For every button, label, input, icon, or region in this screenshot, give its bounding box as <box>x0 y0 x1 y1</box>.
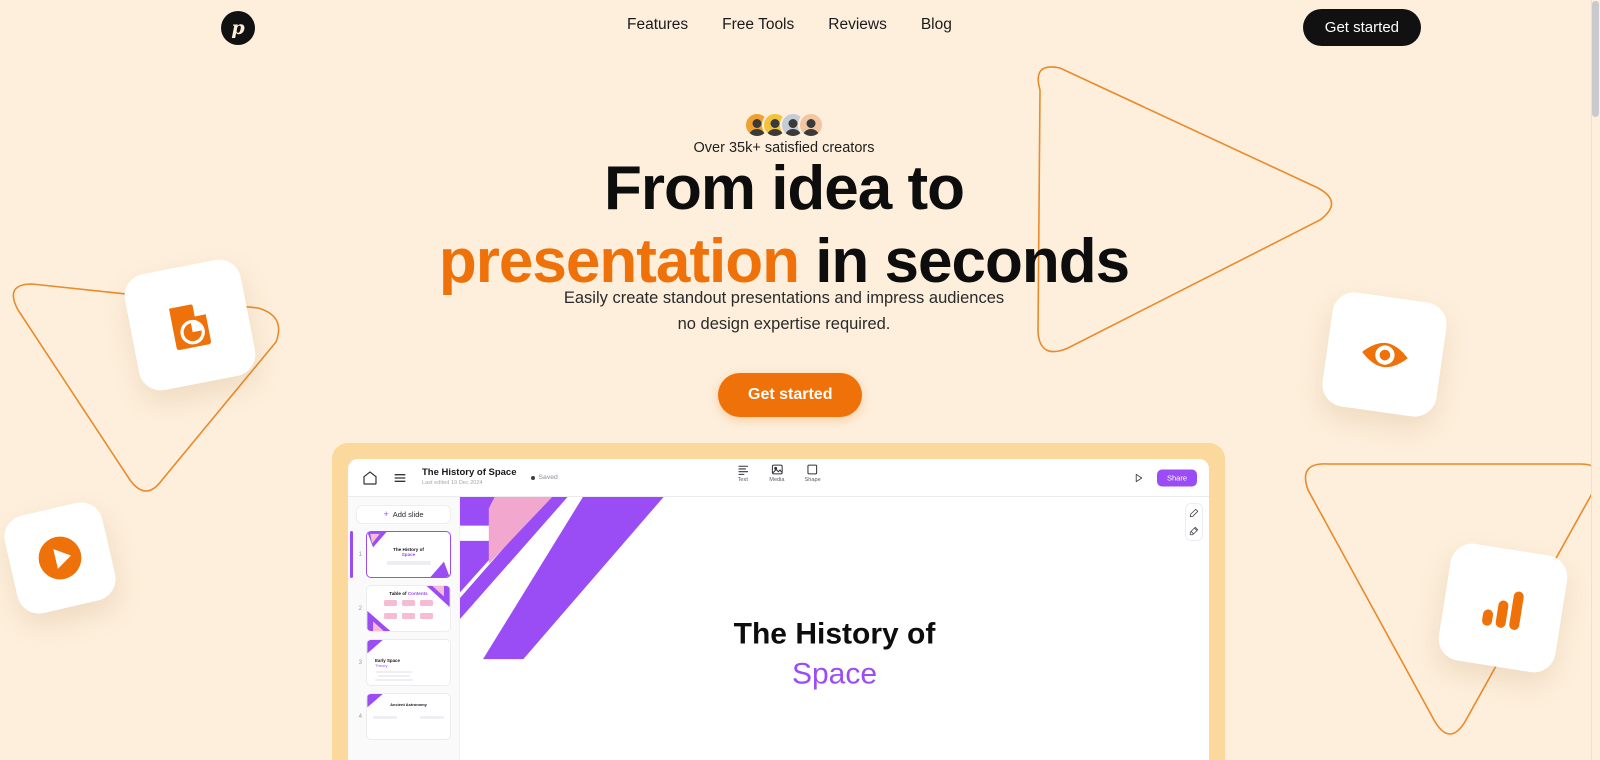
app-toolbar: The History of Space Last edited 19 Dec … <box>348 459 1209 497</box>
tool-shape[interactable]: Shape <box>805 463 821 483</box>
canvas-tools: Text Media Shape <box>736 463 820 483</box>
document-meta: The History of Space Last edited 19 Dec … <box>422 468 517 487</box>
subheading-line-2: no design expertise required. <box>678 315 891 333</box>
nav-item-features[interactable]: Features <box>627 16 688 34</box>
slide-thumb-row-4: 4 Ancient Astronomy <box>356 693 451 740</box>
canvas-title-sub: Space <box>460 654 1209 694</box>
slide-thumbnail-2[interactable]: Table of Contents <box>366 585 451 632</box>
slide-thumbnail-3[interactable]: Early Space Theory <box>366 639 451 686</box>
square-icon <box>806 463 819 476</box>
menu-icon[interactable] <box>392 470 408 486</box>
add-slide-button[interactable]: + Add slide <box>356 505 451 524</box>
tool-media[interactable]: Media <box>769 463 784 483</box>
nav-item-reviews[interactable]: Reviews <box>828 16 887 34</box>
hero-headline: From idea to presentation in seconds <box>0 158 1568 293</box>
slide-thumb-row-1: 1 The History of Space <box>356 531 451 578</box>
avatar-4 <box>798 112 824 138</box>
slide-1-title: The History of Space <box>367 547 450 557</box>
site-header: p Features Free Tools Reviews Blog Get s… <box>0 0 1568 56</box>
app-window: The History of Space Last edited 19 Dec … <box>348 459 1209 760</box>
slide-number-4: 4 <box>356 714 362 720</box>
play-icon[interactable] <box>1133 472 1144 483</box>
slide-thumb-row-3: 3 Early Space Theory <box>356 639 451 686</box>
slide-2-title: Table of Contents <box>367 591 450 596</box>
tool-media-label: Media <box>769 477 784 483</box>
share-button[interactable]: Share <box>1157 469 1197 486</box>
slide-number-2: 2 <box>356 606 362 612</box>
slide-canvas[interactable]: The History of Space <box>460 497 1209 760</box>
avatar-stack <box>744 112 824 138</box>
slide-1-title-sub: Space <box>402 552 416 557</box>
pen-icon[interactable] <box>1189 508 1199 518</box>
slide-thumbnail-1[interactable]: The History of Space <box>366 531 451 578</box>
app-body: + Add slide 1 <box>348 497 1209 760</box>
brand-logo[interactable]: p <box>221 11 255 45</box>
slides-panel: + Add slide 1 <box>348 497 460 760</box>
tool-text[interactable]: Text <box>736 463 749 483</box>
slide-number-1: 1 <box>356 552 362 558</box>
image-icon <box>770 463 783 476</box>
header-get-started-button[interactable]: Get started <box>1303 9 1421 46</box>
slide-2-title-main: Table of <box>389 591 406 596</box>
subheading-line-1: Easily create standout presentations and… <box>564 289 1004 307</box>
headline-line-2: presentation in seconds <box>0 231 1568 293</box>
saved-label: Saved <box>539 474 558 481</box>
page-root: p Features Free Tools Reviews Blog Get s… <box>0 0 1600 760</box>
canvas-title-main: The History of <box>734 618 936 651</box>
slide-thumb-row-2: 2 Table of Contents <box>356 585 451 632</box>
app-mockup-frame: The History of Space Last edited 19 Dec … <box>332 443 1225 760</box>
slide-2-title-sub: Contents <box>408 591 428 596</box>
page-scrollbar-thumb[interactable] <box>1592 1 1599 117</box>
add-slide-label: Add slide <box>393 510 424 519</box>
floating-card-bars <box>1435 540 1570 675</box>
tool-text-label: Text <box>738 477 748 483</box>
page-scrollbar[interactable] <box>1591 0 1600 760</box>
magic-wand-icon[interactable] <box>1189 526 1199 536</box>
canvas-title: The History of Space <box>460 615 1209 694</box>
tool-shape-label: Shape <box>805 477 821 483</box>
slide-number-3: 3 <box>356 660 362 666</box>
hero-subheading: Easily create standout presentations and… <box>0 286 1568 337</box>
brand-logo-letter: p <box>231 19 244 38</box>
main-nav: Features Free Tools Reviews Blog <box>627 16 952 34</box>
document-title: The History of Space <box>422 468 517 479</box>
home-icon[interactable] <box>362 470 378 486</box>
slide-4-title-main: Ancient Astronomy <box>367 702 450 707</box>
saved-status: Saved <box>531 474 558 481</box>
text-lines-icon <box>736 463 749 476</box>
nav-item-blog[interactable]: Blog <box>921 16 952 34</box>
saved-dot-icon <box>531 476 535 480</box>
toolbar-right-actions: Share <box>1133 469 1197 486</box>
plus-icon: + <box>383 510 388 519</box>
slide-selection-bar <box>350 531 353 578</box>
hero-get-started-button[interactable]: Get started <box>718 373 862 417</box>
slide-3-title-sub: Theory <box>375 663 413 668</box>
nav-item-free-tools[interactable]: Free Tools <box>722 16 794 34</box>
play-circle-icon <box>28 526 93 591</box>
social-proof: Over 35k+ satisfied creators <box>0 112 1568 156</box>
headline-line-1: From idea to <box>604 154 964 223</box>
document-last-edited: Last edited 19 Dec 2024 <box>422 480 517 487</box>
bar-chart-icon <box>1469 574 1538 643</box>
floating-card-play <box>0 498 120 618</box>
canvas-side-panel <box>1185 503 1203 541</box>
slide-thumbnail-4[interactable]: Ancient Astronomy <box>366 693 451 740</box>
